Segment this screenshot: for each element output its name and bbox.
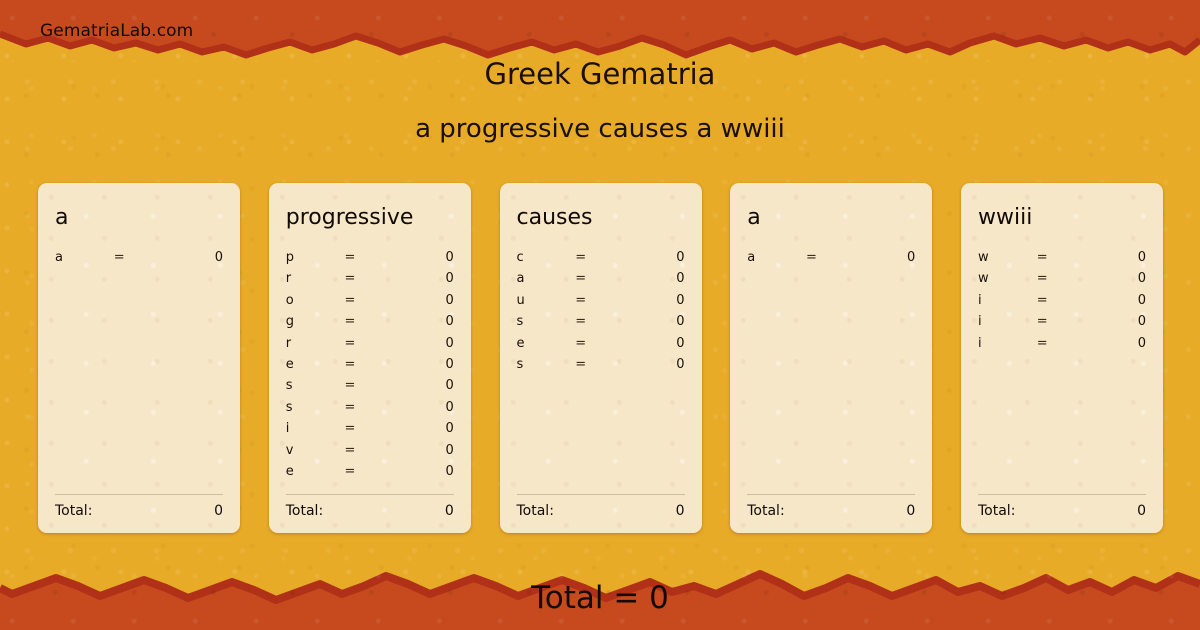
letter-char: r [286, 333, 345, 354]
word-card: causesc=0a=0u=0s=0e=0s=0Total:0 [500, 183, 702, 533]
equals-sign: = [575, 311, 625, 332]
word-card-list: aa=0Total:0progressivep=0r=0o=0g=0r=0e=0… [38, 183, 1163, 533]
equals-sign: = [575, 290, 625, 311]
letter-row: s=0 [286, 397, 454, 418]
letter-char: p [286, 247, 345, 268]
letter-value: 0 [395, 397, 454, 418]
equals-sign: = [345, 333, 395, 354]
word-card: wwiiiw=0w=0i=0i=0i=0Total:0 [961, 183, 1163, 533]
letter-value-list: c=0a=0u=0s=0e=0s=0 [517, 247, 685, 494]
letter-char: w [978, 268, 1037, 289]
letter-char: s [286, 375, 345, 396]
equals-sign: = [575, 333, 625, 354]
letter-row: p=0 [286, 247, 454, 268]
letter-row: i=0 [286, 418, 454, 439]
letter-row: g=0 [286, 311, 454, 332]
letter-char: s [517, 311, 576, 332]
card-word-title: a [55, 205, 223, 231]
letter-char: s [517, 354, 576, 375]
word-card: aa=0Total:0 [38, 183, 240, 533]
card-total-label: Total: [286, 503, 323, 519]
card-total-row: Total:0 [517, 503, 685, 519]
card-divider [978, 494, 1146, 495]
letter-value: 0 [395, 333, 454, 354]
letter-row: a=0 [55, 247, 223, 268]
letter-value: 0 [395, 311, 454, 332]
letter-value: 0 [626, 311, 685, 332]
card-word-title: wwiii [978, 205, 1146, 231]
letter-value: 0 [1087, 333, 1146, 354]
header-block: Greek Gematria a progressive causes a ww… [0, 57, 1200, 144]
letter-value-list: p=0r=0o=0g=0r=0e=0s=0s=0i=0v=0e=0 [286, 247, 454, 494]
letter-value: 0 [626, 290, 685, 311]
letter-row: a=0 [747, 247, 915, 268]
letter-row: u=0 [517, 290, 685, 311]
card-divider [286, 494, 454, 495]
letter-char: c [517, 247, 576, 268]
letter-char: w [978, 247, 1037, 268]
equals-sign: = [1037, 247, 1087, 268]
letter-value: 0 [856, 247, 915, 268]
letter-char: e [286, 354, 345, 375]
letter-value: 0 [164, 247, 223, 268]
letter-char: g [286, 311, 345, 332]
gematria-page: GematriaLab.com Greek Gematria a progres… [0, 0, 1200, 630]
letter-row: i=0 [978, 311, 1146, 332]
equals-sign: = [1037, 268, 1087, 289]
letter-value: 0 [626, 333, 685, 354]
letter-value: 0 [395, 375, 454, 396]
letter-char: v [286, 440, 345, 461]
grand-total: Total = 0 [0, 580, 1200, 616]
card-total-value: 0 [445, 503, 454, 519]
equals-sign: = [345, 268, 395, 289]
letter-value: 0 [1087, 311, 1146, 332]
letter-row: w=0 [978, 247, 1146, 268]
letter-value: 0 [395, 290, 454, 311]
card-word-title: progressive [286, 205, 454, 231]
letter-value-list: a=0 [55, 247, 223, 494]
equals-sign: = [575, 247, 625, 268]
letter-value: 0 [395, 268, 454, 289]
letter-value: 0 [1087, 268, 1146, 289]
letter-row: e=0 [517, 333, 685, 354]
letter-row: r=0 [286, 333, 454, 354]
word-card: aa=0Total:0 [730, 183, 932, 533]
letter-char: u [517, 290, 576, 311]
card-total-value: 0 [1137, 503, 1146, 519]
letter-value: 0 [395, 354, 454, 375]
letter-row: s=0 [517, 354, 685, 375]
page-title: Greek Gematria [0, 57, 1200, 91]
letter-char: i [286, 418, 345, 439]
card-total-row: Total:0 [55, 503, 223, 519]
letter-char: i [978, 290, 1037, 311]
word-card: progressivep=0r=0o=0g=0r=0e=0s=0s=0i=0v=… [269, 183, 471, 533]
letter-char: a [517, 268, 576, 289]
card-divider [517, 494, 685, 495]
equals-sign: = [575, 268, 625, 289]
equals-sign: = [1037, 333, 1087, 354]
letter-row: c=0 [517, 247, 685, 268]
phrase-title: a progressive causes a wwiii [0, 114, 1200, 144]
card-total-label: Total: [978, 503, 1015, 519]
card-total-value: 0 [214, 503, 223, 519]
letter-char: e [517, 333, 576, 354]
equals-sign: = [114, 247, 164, 268]
equals-sign: = [345, 354, 395, 375]
card-total-label: Total: [517, 503, 554, 519]
letter-value: 0 [1087, 247, 1146, 268]
card-total-label: Total: [55, 503, 92, 519]
letter-char: o [286, 290, 345, 311]
equals-sign: = [345, 440, 395, 461]
equals-sign: = [345, 418, 395, 439]
letter-value: 0 [626, 247, 685, 268]
letter-row: v=0 [286, 440, 454, 461]
equals-sign: = [1037, 290, 1087, 311]
letter-value: 0 [395, 247, 454, 268]
card-divider [747, 494, 915, 495]
letter-row: o=0 [286, 290, 454, 311]
letter-value-list: a=0 [747, 247, 915, 494]
letter-row: e=0 [286, 461, 454, 482]
equals-sign: = [345, 461, 395, 482]
letter-char: a [747, 247, 806, 268]
card-total-value: 0 [906, 503, 915, 519]
card-divider [55, 494, 223, 495]
card-total-value: 0 [676, 503, 685, 519]
letter-char: a [55, 247, 114, 268]
letter-value: 0 [395, 418, 454, 439]
card-word-title: causes [517, 205, 685, 231]
card-total-row: Total:0 [286, 503, 454, 519]
equals-sign: = [575, 354, 625, 375]
letter-row: a=0 [517, 268, 685, 289]
letter-value-list: w=0w=0i=0i=0i=0 [978, 247, 1146, 494]
letter-row: e=0 [286, 354, 454, 375]
equals-sign: = [806, 247, 856, 268]
card-word-title: a [747, 205, 915, 231]
equals-sign: = [1037, 311, 1087, 332]
equals-sign: = [345, 247, 395, 268]
letter-char: r [286, 268, 345, 289]
equals-sign: = [345, 375, 395, 396]
letter-row: i=0 [978, 290, 1146, 311]
letter-value: 0 [395, 440, 454, 461]
letter-char: i [978, 311, 1037, 332]
letter-char: i [978, 333, 1037, 354]
letter-value: 0 [395, 461, 454, 482]
equals-sign: = [345, 397, 395, 418]
card-total-row: Total:0 [747, 503, 915, 519]
equals-sign: = [345, 290, 395, 311]
letter-row: i=0 [978, 333, 1146, 354]
letter-value: 0 [626, 268, 685, 289]
letter-row: s=0 [517, 311, 685, 332]
letter-row: r=0 [286, 268, 454, 289]
letter-row: w=0 [978, 268, 1146, 289]
equals-sign: = [345, 311, 395, 332]
letter-char: s [286, 397, 345, 418]
letter-value: 0 [1087, 290, 1146, 311]
letter-value: 0 [626, 354, 685, 375]
letter-row: s=0 [286, 375, 454, 396]
card-total-label: Total: [747, 503, 784, 519]
letter-char: e [286, 461, 345, 482]
site-logo[interactable]: GematriaLab.com [40, 21, 193, 41]
card-total-row: Total:0 [978, 503, 1146, 519]
